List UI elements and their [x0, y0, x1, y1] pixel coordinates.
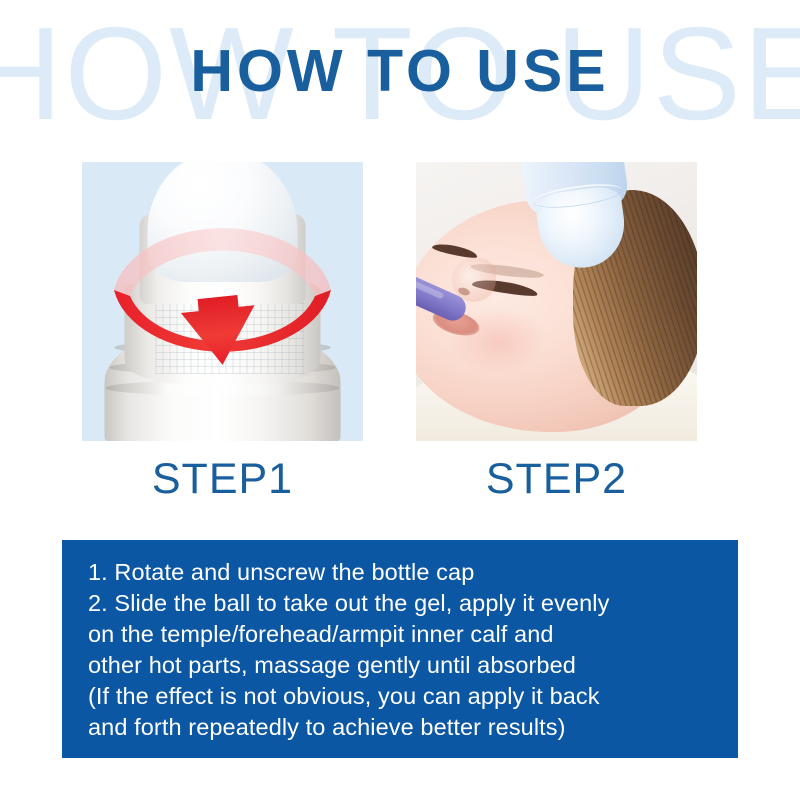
instruction-line: other hot parts, massage gently until ab… [88, 650, 716, 681]
baby-application-photo [416, 162, 697, 441]
page-title: HOW TO USE [190, 42, 609, 101]
how-to-use-infographic: HOW TO USE HOW TO USE [0, 0, 800, 800]
instructions-box: 1. Rotate and unscrew the bottle cap 2. … [62, 540, 738, 758]
instruction-line: (If the effect is not obvious, you can a… [88, 681, 716, 712]
roll-on-bottle-on-forehead [507, 162, 649, 284]
step-2-label: STEP2 [416, 458, 697, 501]
step-2-image-panel [416, 162, 697, 441]
title-zone: HOW TO USE HOW TO USE [0, 0, 800, 140]
roll-on-bottle-illustration [115, 162, 330, 441]
step-1-label: STEP1 [82, 458, 363, 501]
step-1-image-panel [82, 162, 363, 441]
instruction-line: on the temple/forehead/armpit inner calf… [88, 619, 716, 650]
instruction-line: 1. Rotate and unscrew the bottle cap [88, 557, 716, 588]
instruction-line: 2. Slide the ball to take out the gel, a… [88, 588, 716, 619]
bottle-roller-ball-dome [148, 162, 298, 282]
instruction-line: and forth repeatedly to achieve better r… [88, 712, 716, 743]
